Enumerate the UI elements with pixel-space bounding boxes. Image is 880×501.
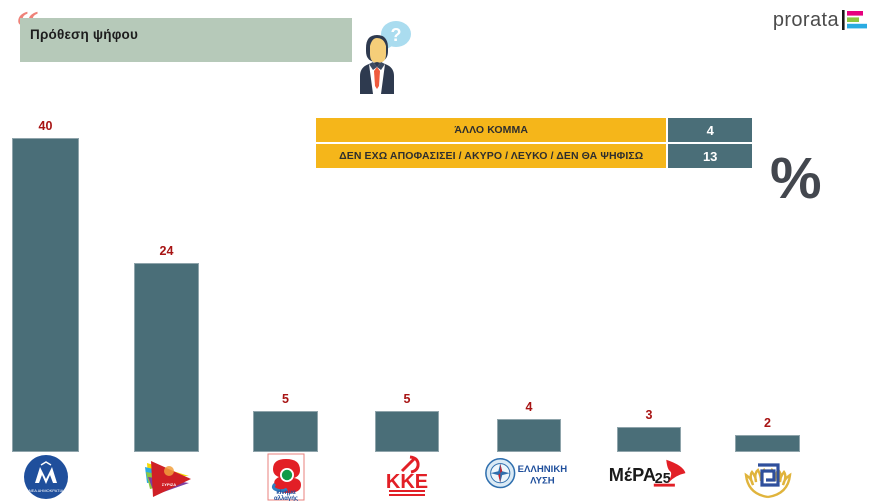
person-question-icon: ? [352, 18, 412, 94]
bar-syriza [134, 263, 199, 452]
bar-group-kke: 5 ΚΚΕ [375, 411, 439, 452]
svg-text:ΕΛΛΗΝΙΚΗ: ΕΛΛΗΝΙΚΗ [518, 464, 568, 475]
svg-text:ΣΥΡΙΖΑ: ΣΥΡΙΖΑ [161, 482, 175, 487]
kinima-allagis-logo: κίνημα αλλαγής [248, 453, 324, 501]
svg-text:ΛΥΣΗ: ΛΥΣΗ [530, 476, 555, 487]
brand-name: prorata [773, 9, 839, 32]
bar-chrysi-avgi [735, 435, 800, 452]
bar-value-label: 5 [375, 392, 439, 406]
brand-logo: prorata [773, 8, 868, 32]
bar-group-mera25: 3 ΜέΡΑ 25 [617, 427, 681, 452]
bar-mera25 [617, 427, 681, 452]
mera25-logo: ΜέΡΑ 25 [603, 453, 695, 501]
bar-value-label: 4 [497, 400, 561, 414]
syriza-logo: ΣΥΡΙΖΑ [129, 453, 205, 501]
bar-value-label: 2 [735, 416, 800, 430]
bar-value-label: 3 [617, 408, 681, 422]
vote-intention-bar-chart: 40 ΝΕΑ ΔΗΜΟΚΡΑΤΙΑ 24 ΣΥΡΙΖΑ [0, 100, 880, 501]
bar-group-chrysi-avgi: 2 [735, 435, 800, 452]
bar-nd [12, 138, 79, 452]
svg-text:ΚΚΕ: ΚΚΕ [386, 471, 428, 493]
svg-text:ΝΕΑ ΔΗΜΟΚΡΑΤΙΑ: ΝΕΑ ΔΗΜΟΚΡΑΤΙΑ [28, 488, 63, 493]
bar-chart-mark-icon [842, 9, 868, 31]
bar-group-syriza: 24 ΣΥΡΙΖΑ [134, 263, 199, 452]
chrysi-avgi-logo [730, 453, 806, 501]
kke-logo: ΚΚΕ [369, 453, 445, 501]
elliniki-lysi-logo: ΕΛΛΗΝΙΚΗ ΛΥΣΗ [483, 453, 575, 501]
bar-elliniki-lysi [497, 419, 561, 452]
slide-canvas: “ Πρόθεση ψήφου ? prorata % [0, 0, 880, 501]
bar-kinal [253, 411, 318, 452]
svg-text:ΜέΡΑ: ΜέΡΑ [609, 465, 656, 485]
svg-text:αλλαγής: αλλαγής [273, 496, 297, 501]
page-title: Πρόθεση ψήφου [30, 27, 138, 42]
bar-value-label: 24 [134, 244, 199, 258]
bar-group-nd: 40 ΝΕΑ ΔΗΜΟΚΡΑΤΙΑ [12, 138, 79, 452]
bar-value-label: 40 [12, 119, 79, 133]
bar-group-elliniki-lysi: 4 ΕΛΛΗΝΙΚΗ ΛΥΣΗ [497, 419, 561, 452]
svg-text:?: ? [391, 25, 402, 45]
bar-group-kinal: 5 κίνημα αλλαγής [253, 411, 318, 452]
bar-kke [375, 411, 439, 452]
nea-dimokratia-logo: ΝΕΑ ΔΗΜΟΚΡΑΤΙΑ [8, 453, 84, 501]
bar-value-label: 5 [253, 392, 318, 406]
